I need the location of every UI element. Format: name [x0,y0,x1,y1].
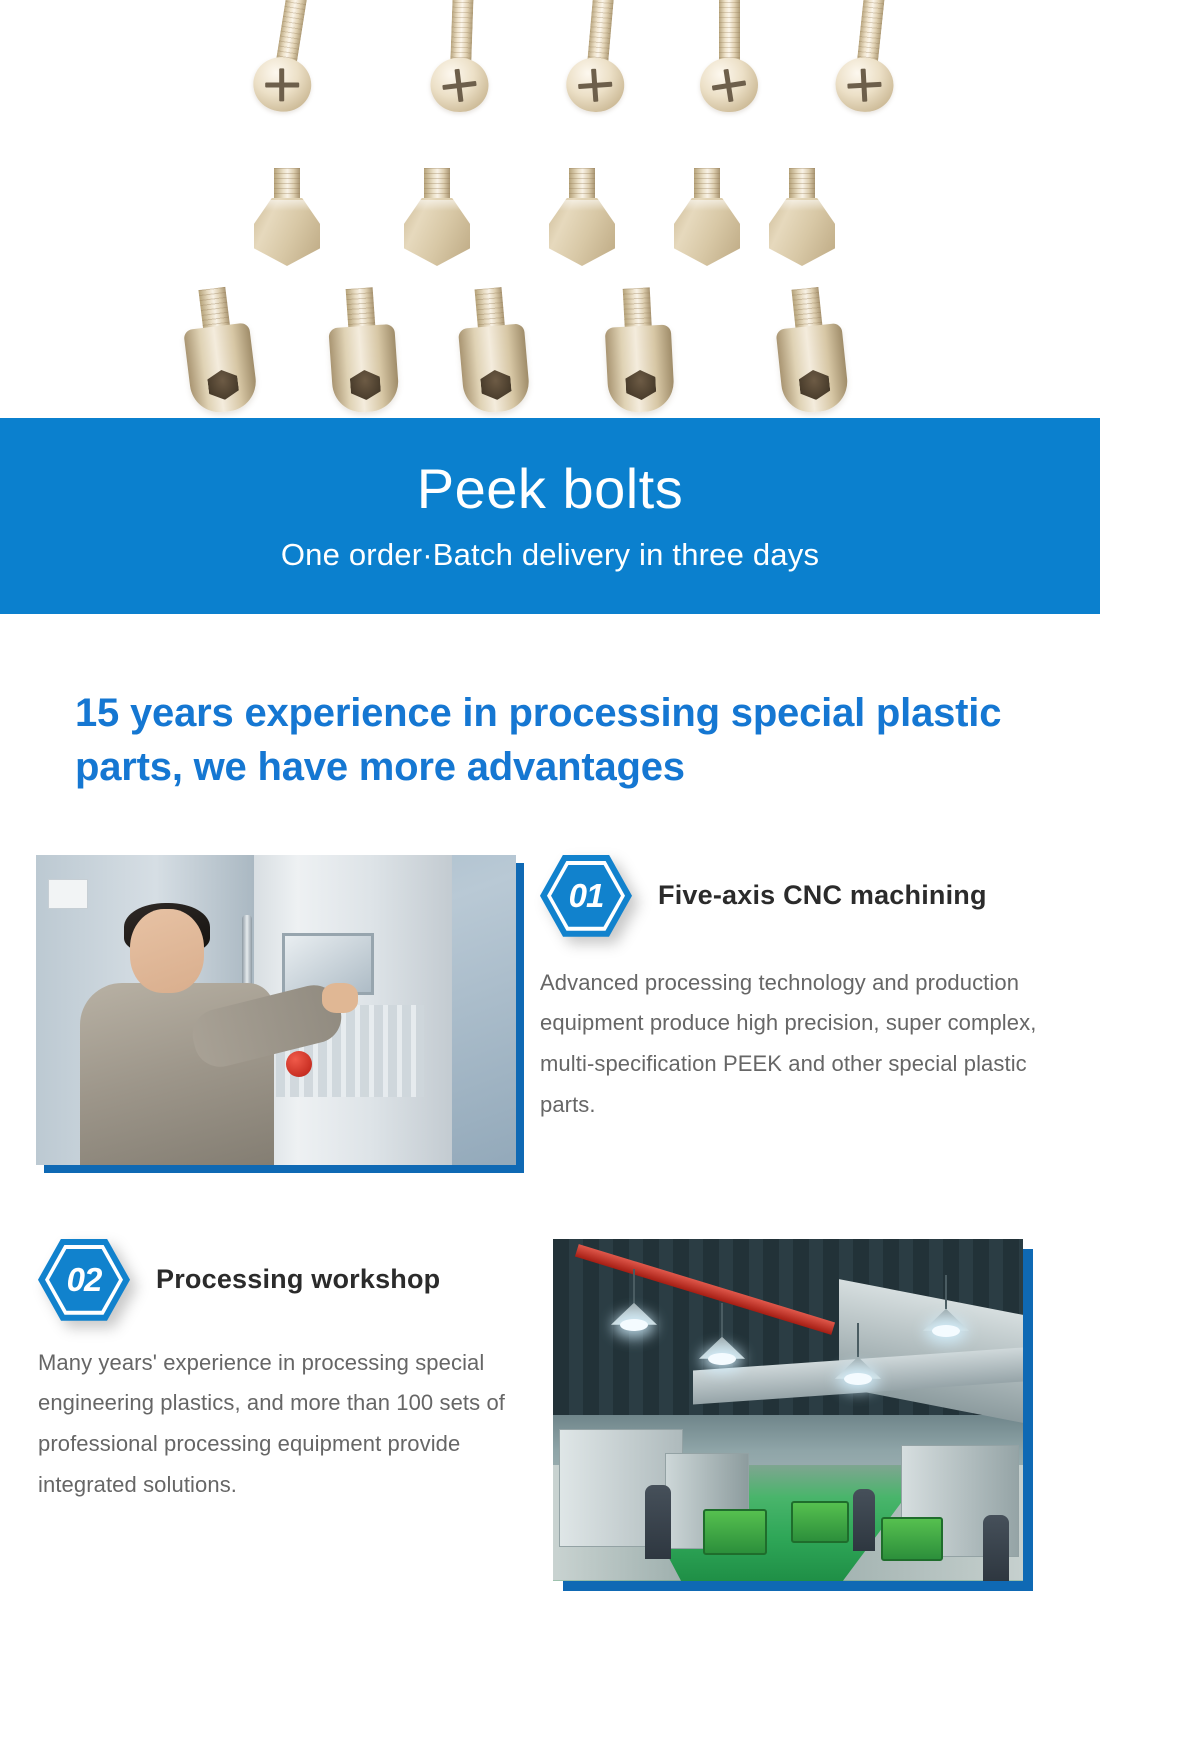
product-title-banner: Peek bolts One order·Batch delivery in t… [0,418,1100,614]
countersunk-screw [700,0,758,122]
feature-01-text: 01 Five-axis CNC machining Advanced proc… [540,855,1080,1126]
feature-description: Advanced processing technology and produ… [540,963,1080,1126]
cnc-machining-photo [36,855,516,1165]
feature-block-01: 01 Five-axis CNC machining Advanced proc… [0,855,1200,1175]
socket-cap-screw [177,284,264,418]
socket-cap-screw [324,286,405,417]
countersunk-screw [248,0,330,126]
feature-description: Many years' experience in processing spe… [38,1343,530,1506]
hero-product-image [0,0,1100,418]
feature-block-02: 02 Processing workshop Many years' exper… [0,1239,1200,1599]
hex-head-bolt [400,168,474,272]
pendant-lamp-icon [835,1355,881,1379]
feature-02-heading-row: 02 Processing workshop [38,1239,530,1321]
product-title: Peek bolts [417,459,684,519]
pendant-lamp-icon [699,1335,745,1359]
socket-cap-screw [601,286,679,416]
page-headline: 15 years experience in processing specia… [75,686,1050,795]
workshop-photo [553,1239,1023,1581]
cnc-machining-photo-image [36,855,516,1165]
operator-hand [322,983,358,1013]
product-detail-page: Peek bolts One order·Batch delivery in t… [0,0,1200,1752]
worker-figure [645,1485,671,1559]
countersunk-screw [563,0,635,124]
feature-02-text: 02 Processing workshop Many years' exper… [38,1239,530,1506]
material-cart [881,1517,943,1561]
socket-cap-screw [453,285,536,417]
bolt-row-countersunk-screws [0,0,1100,142]
machine-label [48,879,88,909]
hex-head-bolt [250,168,324,272]
workshop-photo-image [553,1239,1023,1581]
feature-number: 02 [38,1239,130,1321]
pendant-lamp-icon [923,1307,969,1331]
worker-figure [983,1515,1009,1581]
bolt-row-socket-cap-screws [0,288,1100,418]
bolt-row-hex-head-bolts [0,168,1100,278]
hex-head-bolt [765,168,839,272]
hex-head-bolt [670,168,744,272]
operator-figure [74,909,274,1165]
feature-number: 01 [540,855,632,937]
product-subtitle: One order·Batch delivery in three days [281,537,819,573]
pendant-lamp-icon [611,1301,657,1325]
worker-figure [853,1489,875,1551]
material-cart [703,1509,767,1555]
hex-head-bolt [545,168,619,272]
countersunk-screw [832,0,906,125]
material-cart [791,1501,849,1543]
countersunk-screw [429,0,493,123]
emergency-stop-icon [286,1051,312,1077]
operator-head [130,909,204,993]
feature-title: Five-axis CNC machining [658,880,987,911]
socket-cap-screw [770,285,855,418]
feature-01-heading-row: 01 Five-axis CNC machining [540,855,1080,937]
hexagon-badge-icon: 02 [38,1239,130,1321]
hexagon-badge-icon: 01 [540,855,632,937]
feature-title: Processing workshop [156,1264,440,1295]
